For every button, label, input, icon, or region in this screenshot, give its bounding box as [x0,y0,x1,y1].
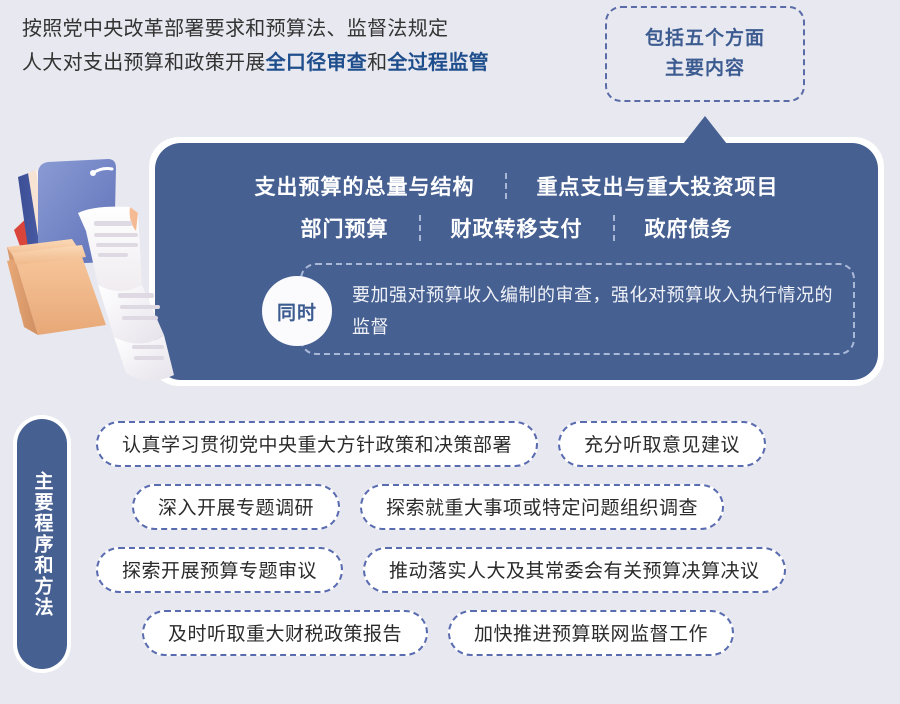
header-accent-quanguocheng: 全过程监管 [387,52,489,74]
callout-line-1: 包括五个方面 [645,24,765,54]
panel-divider-icon [613,215,615,241]
header-accent-quankoujing: 全口径审查 [266,52,368,74]
sidebar-label-text: 主要程序和方法 [28,471,57,618]
main-blue-panel: 支出预算的总量与结构 重点支出与重大投资项目 部门预算 财政转移支付 政府债务 … [155,143,878,380]
panel-item-government-debt: 政府债务 [641,213,737,243]
callout-line-2: 主要内容 [665,54,745,84]
callout-pointer-triangle-icon [683,116,727,144]
sidebar-label-main-procedures: 主要程序和方法 [17,419,67,669]
header-conjunction: 和 [367,52,387,74]
procedures-list: 认真学习贯彻党中央重大方针政策和决策部署 充分听取意见建议 深入开展专题调研 探… [90,412,896,664]
panel-divider-icon [419,215,421,241]
procedure-pill[interactable]: 加快推进预算联网监督工作 [448,610,734,656]
procedure-pill[interactable]: 探索就重大事项或特定问题组织调查 [360,484,724,530]
panel-row-2: 部门预算 财政转移支付 政府债务 [155,211,878,245]
documents-box-receipt-illustration [2,135,232,385]
header-text-block: 按照党中央改革部署要求和预算法、监督法规定 人大对支出预算和政策开展全口径审查和… [22,12,602,80]
procedure-pill[interactable]: 深入开展专题调研 [132,484,340,530]
procedure-pill[interactable]: 及时听取重大财税政策报告 [142,610,428,656]
procedure-row-4: 及时听取重大财税政策报告 加快推进预算联网监督工作 [90,601,896,664]
subbox-text: 要加强对预算收入编制的审查，强化对预算收入执行情况的监督 [352,279,842,343]
panel-subbox-simultaneous: 同时 要加强对预算收入编制的审查，强化对预算收入执行情况的监督 [300,263,855,355]
header-line-2: 人大对支出预算和政策开展全口径审查和全过程监管 [22,46,602,80]
panel-item-fiscal-transfer: 财政转移支付 [447,213,587,243]
panel-item-total-structure: 支出预算的总量与结构 [251,171,479,201]
panel-item-department-budget: 部门预算 [297,213,393,243]
header-line-2-prefix: 人大对支出预算和政策开展 [22,52,266,74]
procedure-row-2: 深入开展专题调研 探索就重大事项或特定问题组织调查 [90,475,896,538]
badge-tongshi: 同时 [262,276,332,346]
procedure-pill[interactable]: 探索开展预算专题审议 [96,547,343,593]
procedure-pill[interactable]: 充分听取意见建议 [558,421,766,467]
panel-row-1: 支出预算的总量与结构 重点支出与重大投资项目 [155,169,878,203]
header-line-1: 按照党中央改革部署要求和预算法、监督法规定 [22,12,602,46]
procedure-row-1: 认真学习贯彻党中央重大方针政策和决策部署 充分听取意见建议 [90,412,896,475]
procedure-row-3: 探索开展预算专题审议 推动落实人大及其常委会有关预算决算决议 [90,538,896,601]
panel-item-key-expenditure: 重点支出与重大投资项目 [533,171,783,201]
procedure-pill[interactable]: 推动落实人大及其常委会有关预算决算决议 [363,547,786,593]
procedure-pill[interactable]: 认真学习贯彻党中央重大方针政策和决策部署 [96,421,538,467]
callout-box-five-aspects: 包括五个方面 主要内容 [605,6,805,102]
panel-divider-icon [505,173,507,199]
